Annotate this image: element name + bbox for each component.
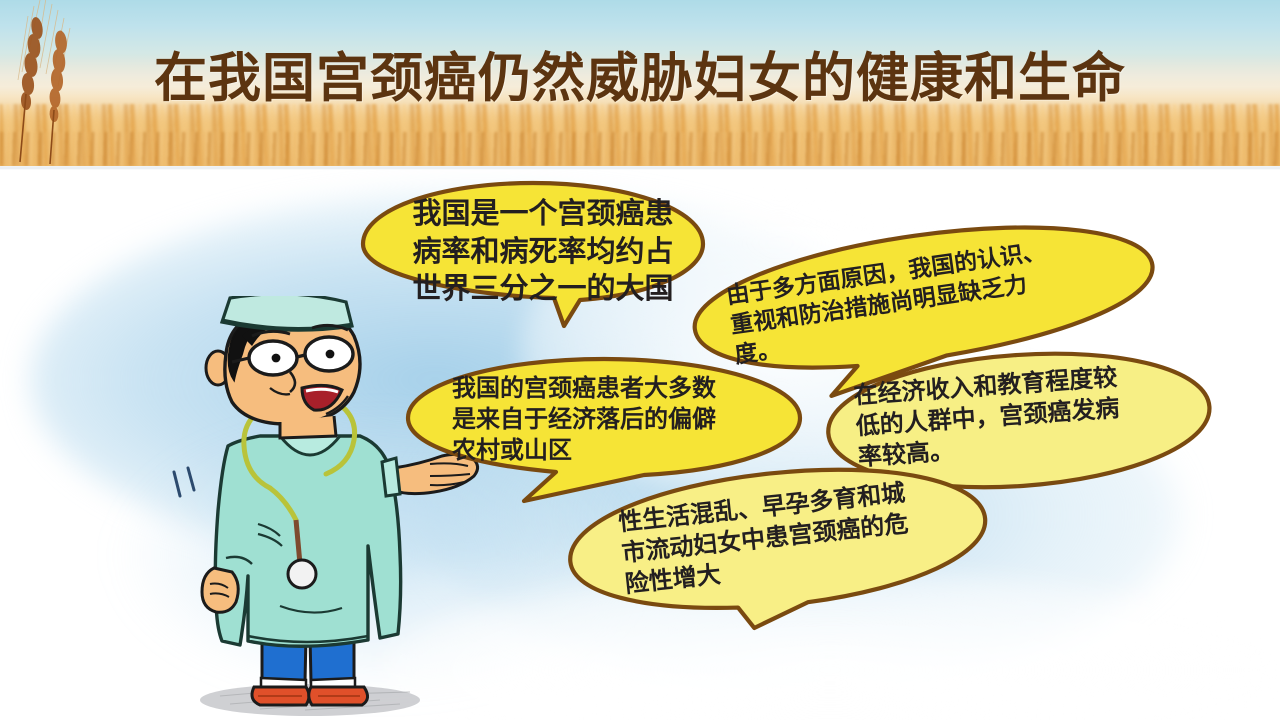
slide-header-banner: 在我国宫颈癌仍然威胁妇女的健康和生命 [0,0,1280,166]
doctor-head [206,296,360,438]
doctor-coat [215,436,400,646]
presentation-slide: 在我国宫颈癌仍然威胁妇女的健康和生命 [0,0,1280,720]
doctor-left-hand [202,568,238,612]
doctor-shoes [252,687,368,705]
speech-bubble-prevalence: 我国是一个宫颈癌患 病率和病死率均约占 世界三分之一的大国 [358,180,708,325]
stethoscope-chestpiece [288,560,316,588]
motion-lines [174,468,194,496]
wheat-field-texture-front [0,132,1280,166]
page-title: 在我国宫颈癌仍然威胁妇女的健康和生命 [0,36,1280,112]
